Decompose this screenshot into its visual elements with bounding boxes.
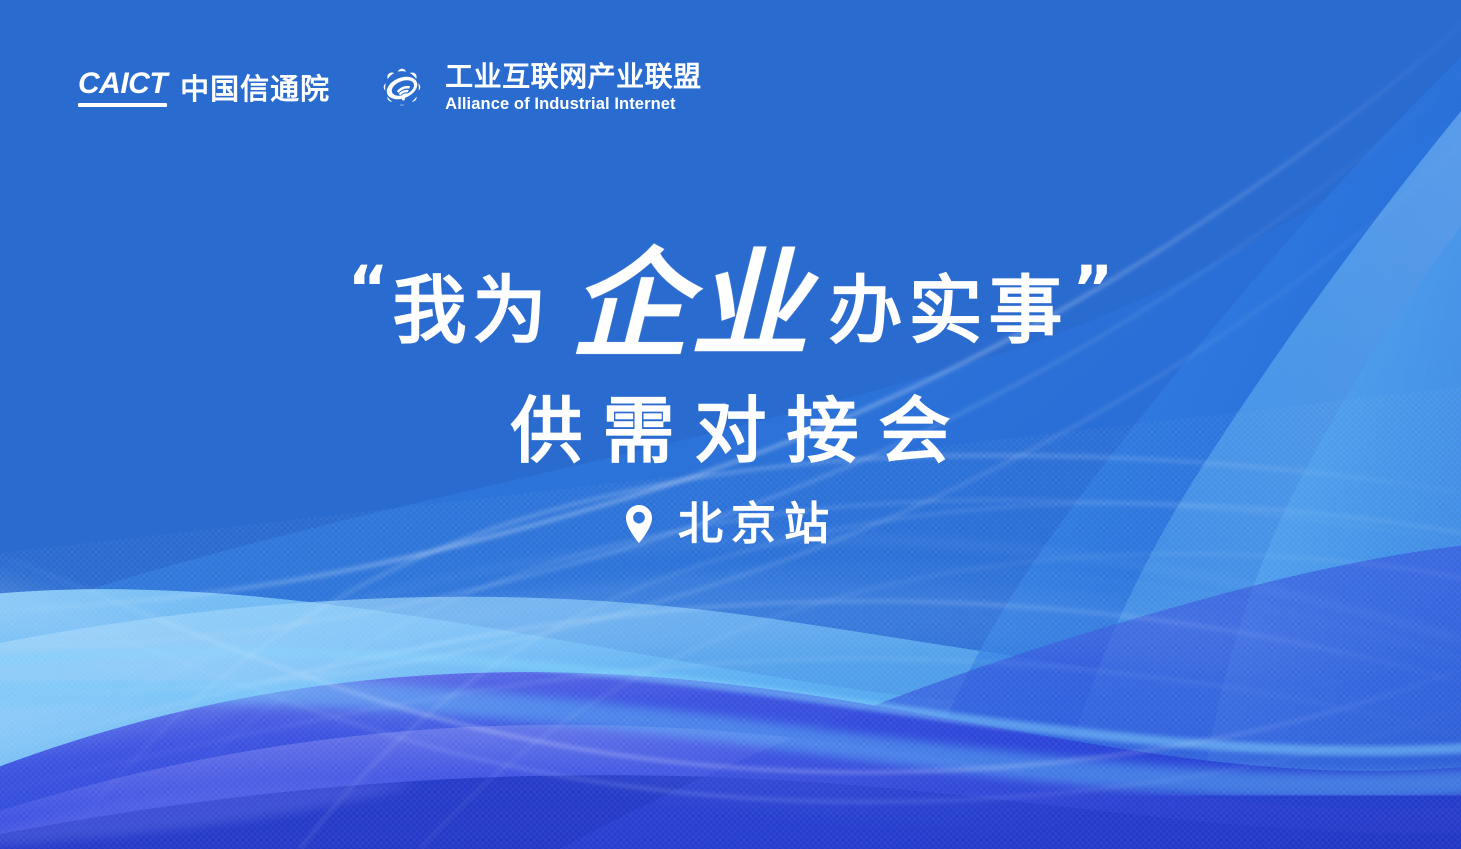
alliance-logo: 工业互联网产业联盟 Alliance of Industrial Interne… (372, 58, 702, 118)
caict-acronym: CAICT (78, 69, 167, 100)
caict-chinese-name: 中国信通院 (180, 75, 330, 107)
map-pin-icon (624, 504, 654, 544)
location-name: 北京站 (670, 501, 837, 546)
location-row: 北京站 (0, 501, 1461, 546)
alliance-text: 工业互联网产业联盟 Alliance of Industrial Interne… (445, 62, 702, 113)
quote-close: ” (1073, 258, 1114, 320)
title-part-2: 办实事 (825, 274, 1073, 348)
alliance-chinese-name: 工业互联网产业联盟 (445, 62, 702, 92)
title-part-1: 我为 (388, 274, 556, 348)
gear-wifi-icon (372, 58, 432, 118)
event-poster: CAICT 中国信通院 (0, 0, 1461, 849)
caict-underline (78, 103, 167, 107)
logo-bar: CAICT 中国信通院 (78, 58, 702, 118)
main-title: “ 我为 企业 办实事 ” (0, 236, 1461, 386)
quote-open: “ (348, 258, 389, 320)
caict-logo: CAICT 中国信通院 (78, 69, 330, 108)
caict-wordmark-icon: CAICT (78, 69, 167, 108)
subtitle: 供需对接会 (0, 392, 1461, 471)
alliance-english-name: Alliance of Industrial Internet (445, 95, 702, 114)
title-brush-word: 企业 (556, 246, 824, 364)
headline-block: “ 我为 企业 办实事 ” 供需对接会 北京站 (0, 236, 1461, 546)
